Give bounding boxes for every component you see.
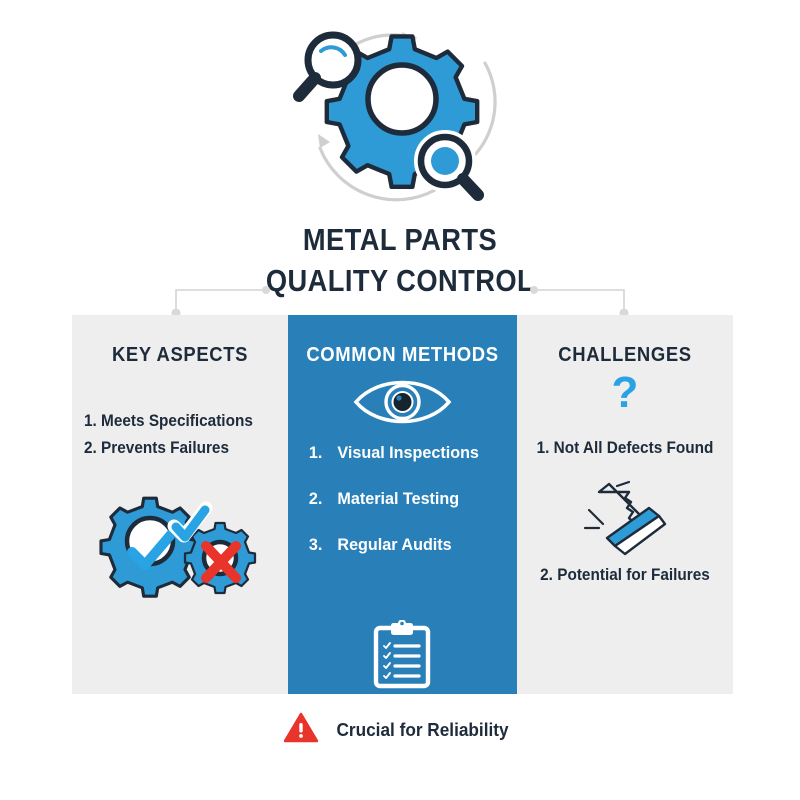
two-gears-check-cross-icon (88, 490, 273, 615)
list-item-label: Material Testing (337, 489, 459, 509)
question-mark-icon: ? (517, 371, 733, 415)
list-item: 1. Visual Inspections (288, 443, 506, 463)
list-item: 2. Prevents Failures (84, 435, 274, 462)
column-key-aspects: KEY ASPECTS 1. Meets Specifications 2. P… (72, 315, 288, 694)
warning-triangle-icon (284, 712, 318, 748)
footer-banner: Crucial for Reliability (0, 712, 800, 748)
column-common-methods: COMMON METHODS 1. Visual Inspections 2. … (288, 315, 517, 694)
list-item-label: Regular Audits (337, 535, 451, 555)
list-item: 1. Meets Specifications (84, 408, 274, 435)
column-heading-common-methods: COMMON METHODS (299, 343, 505, 367)
hero-gear-magnifier-icon (285, 18, 520, 213)
column-heading-challenges: CHALLENGES (528, 343, 722, 367)
broken-metal-bar-icon (577, 480, 673, 562)
list-item: 2. Potential for Failures (525, 566, 726, 585)
column-heading-key-aspects: KEY ASPECTS (83, 343, 277, 367)
key-aspects-list: 1. Meets Specifications 2. Prevents Fail… (84, 408, 274, 461)
footer-label: Crucial for Reliability (337, 719, 509, 741)
list-item-label: Visual Inspections (337, 443, 479, 463)
list-item: 2. Material Testing (288, 489, 506, 509)
eye-icon (350, 377, 455, 427)
title-line-1: METAL PARTS (48, 220, 752, 261)
columns-container: KEY ASPECTS 1. Meets Specifications 2. P… (72, 315, 733, 694)
common-methods-list: 1. Visual Inspections 2. Material Testin… (288, 443, 517, 581)
list-item: 3. Regular Audits (288, 535, 506, 555)
list-item-number: 2. (309, 489, 338, 509)
clipboard-checklist-icon (371, 620, 433, 690)
column-challenges: CHALLENGES ? 1. Not All Defects Found (517, 315, 733, 694)
list-item-number: 1. (309, 443, 338, 463)
list-item-number: 3. (309, 535, 338, 555)
list-item: 1. Not All Defects Found (525, 439, 726, 458)
